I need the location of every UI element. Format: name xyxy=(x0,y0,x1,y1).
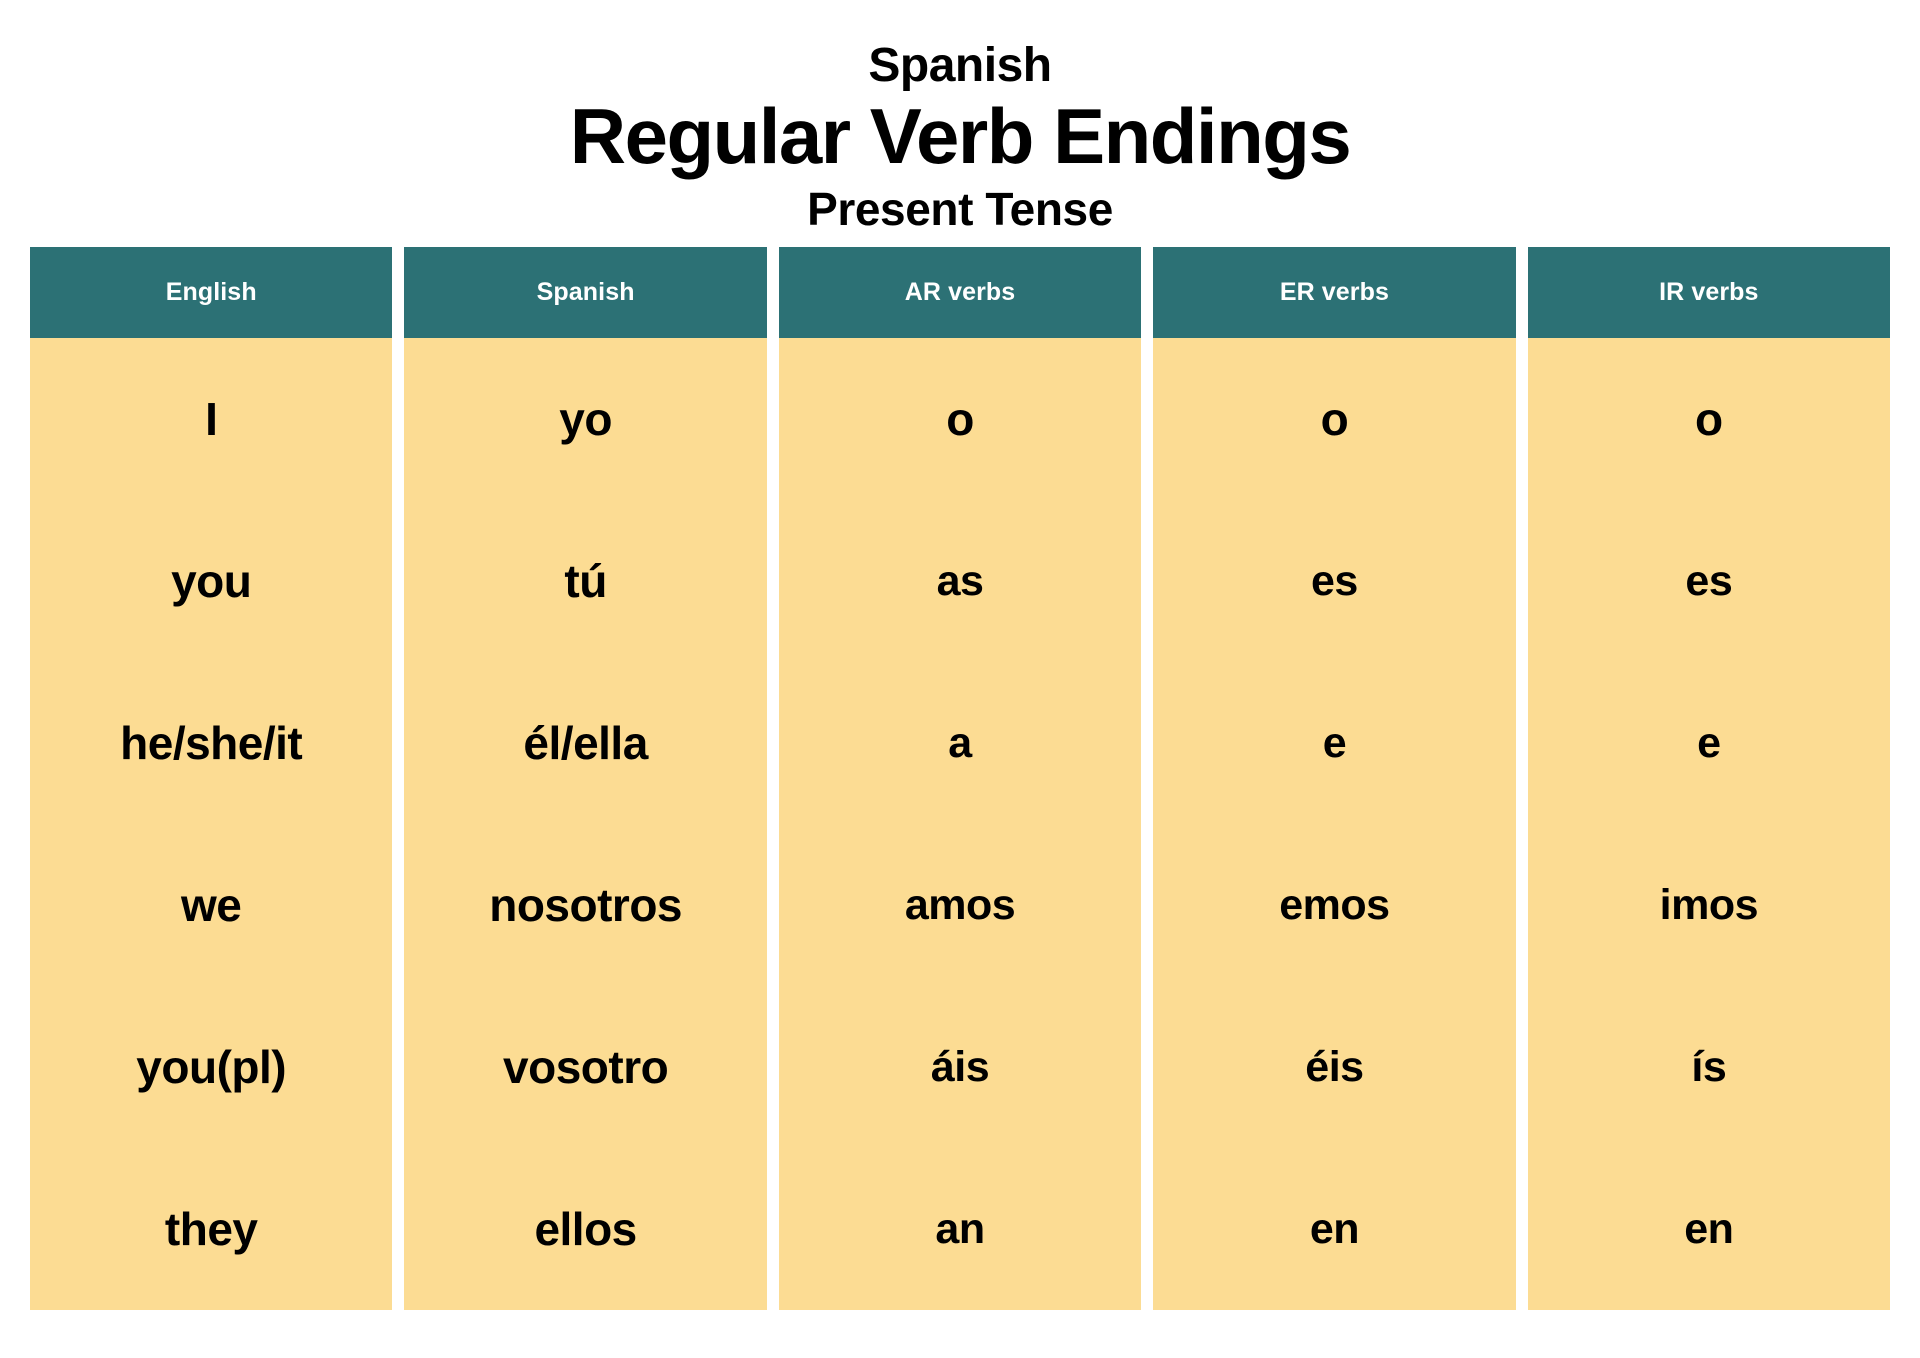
table-cell: ís xyxy=(1528,986,1890,1148)
column-ir-verbs: IR verbs o es e imos ís en xyxy=(1528,247,1890,1310)
table-cell: éis xyxy=(1153,986,1515,1148)
table-cell: o xyxy=(1528,338,1890,500)
column-header-er-verbs: ER verbs xyxy=(1153,247,1515,338)
table-cell: e xyxy=(1528,662,1890,824)
page-title: Regular Verb Endings xyxy=(0,94,1920,178)
table-cell: he/she/it xyxy=(30,662,392,824)
table-cell: a xyxy=(779,662,1141,824)
table-cell: es xyxy=(1528,500,1890,662)
table-cell: emos xyxy=(1153,824,1515,986)
table-cell: as xyxy=(779,500,1141,662)
column-body-ir-verbs: o es e imos ís en xyxy=(1528,338,1890,1310)
table-cell: you(pl) xyxy=(30,986,392,1148)
verb-endings-table: English I you he/she/it we you(pl) they … xyxy=(30,247,1890,1310)
table-cell: you xyxy=(30,500,392,662)
table-cell: e xyxy=(1153,662,1515,824)
column-header-spanish: Spanish xyxy=(404,247,766,338)
column-body-er-verbs: o es e emos éis en xyxy=(1153,338,1515,1310)
table-cell: they xyxy=(30,1148,392,1310)
table-cell: él/ella xyxy=(404,662,766,824)
column-er-verbs: ER verbs o es e emos éis en xyxy=(1153,247,1515,1310)
table-cell: imos xyxy=(1528,824,1890,986)
table-cell: an xyxy=(779,1148,1141,1310)
column-header-ir-verbs: IR verbs xyxy=(1528,247,1890,338)
column-body-english: I you he/she/it we you(pl) they xyxy=(30,338,392,1310)
table-cell: en xyxy=(1528,1148,1890,1310)
title-subtitle: Present Tense xyxy=(0,184,1920,235)
table-cell: nosotros xyxy=(404,824,766,986)
column-spanish: Spanish yo tú él/ella nosotros vosotro e… xyxy=(404,247,766,1310)
table-cell: we xyxy=(30,824,392,986)
title-eyebrow: Spanish xyxy=(0,42,1920,90)
infographic-page: Spanish Regular Verb Endings Present Ten… xyxy=(0,0,1920,1358)
table-cell: o xyxy=(779,338,1141,500)
column-body-ar-verbs: o as a amos áis an xyxy=(779,338,1141,1310)
table-cell: yo xyxy=(404,338,766,500)
table-cell: ellos xyxy=(404,1148,766,1310)
table-cell: en xyxy=(1153,1148,1515,1310)
column-header-english: English xyxy=(30,247,392,338)
column-body-spanish: yo tú él/ella nosotros vosotro ellos xyxy=(404,338,766,1310)
column-ar-verbs: AR verbs o as a amos áis an xyxy=(779,247,1141,1310)
table-cell: amos xyxy=(779,824,1141,986)
table-cell: es xyxy=(1153,500,1515,662)
title-block: Spanish Regular Verb Endings Present Ten… xyxy=(0,0,1920,235)
table-cell: vosotro xyxy=(404,986,766,1148)
table-cell: o xyxy=(1153,338,1515,500)
table-cell: tú xyxy=(404,500,766,662)
table-cell: I xyxy=(30,338,392,500)
column-english: English I you he/she/it we you(pl) they xyxy=(30,247,392,1310)
table-cell: áis xyxy=(779,986,1141,1148)
column-header-ar-verbs: AR verbs xyxy=(779,247,1141,338)
